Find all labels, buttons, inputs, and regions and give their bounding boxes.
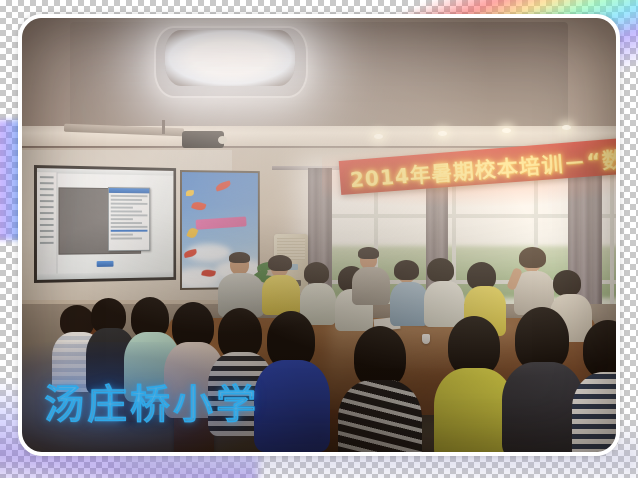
projection-screen: [34, 165, 176, 283]
mural-bird-cutout: [215, 180, 232, 191]
downlight: [438, 131, 447, 136]
app-settings-dialog: [108, 187, 150, 251]
mural-leaf-cutout: [186, 227, 198, 240]
mural-pink-banner: [196, 216, 247, 229]
dialog-row: [111, 234, 133, 236]
photograph: 2014年暑期校本培训－“数字化专题”: [22, 18, 616, 452]
dialog-row: [111, 207, 133, 209]
dialog-row: [111, 203, 148, 205]
ceiling-recess: [70, 22, 569, 126]
app-sidebar: [37, 172, 58, 275]
dialog-row: [111, 199, 143, 201]
projector-mount: [162, 120, 165, 134]
downlight: [502, 128, 511, 133]
downlight: [562, 125, 571, 130]
projection-screen-image: [37, 168, 173, 280]
dialog-row: [111, 222, 143, 224]
screenshot-canvas: 2014年暑期校本培训－“数字化专题”: [0, 0, 638, 478]
dialog-titlebar: [109, 188, 149, 193]
mural-bird-cutout: [191, 200, 206, 212]
dialog-row: [111, 214, 148, 216]
dialog-row: [111, 218, 133, 220]
projector-lens: [218, 136, 227, 144]
hair: [229, 252, 250, 263]
dialog-row: [111, 237, 143, 239]
dialog-row: [111, 226, 148, 228]
ceiling-light-rim: [154, 26, 308, 98]
dialog-row: [111, 210, 143, 212]
dialog-ok-button: [97, 261, 114, 267]
photo-frame: 2014年暑期校本培训－“数字化专题”: [18, 14, 620, 456]
dialog-row-selected: [111, 230, 148, 232]
app-status-bar: [37, 271, 173, 280]
downlight: [374, 134, 383, 139]
cup: [422, 334, 430, 344]
dialog-row: [111, 195, 148, 197]
mural-leaf-cutout: [186, 190, 194, 196]
